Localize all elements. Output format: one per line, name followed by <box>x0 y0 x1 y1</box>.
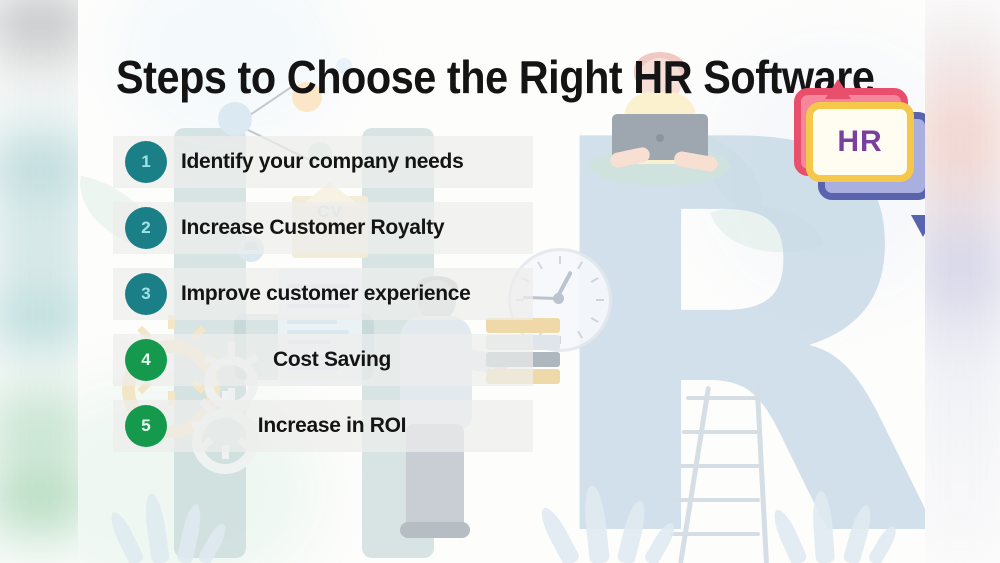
speech-bubble-front: HR <box>806 102 914 182</box>
speech-bubble-tail-pink <box>825 79 851 99</box>
grass-tuft-left <box>120 487 240 563</box>
step-label-3: Improve customer experience <box>181 282 471 306</box>
step-label-2: Increase Customer Royalty <box>181 216 444 240</box>
grass-tuft-center <box>556 481 686 563</box>
step-number-badge-1: 1 <box>125 141 167 183</box>
step-number-badge-5: 5 <box>125 405 167 447</box>
speech-bubble-tail-blue <box>911 215 925 237</box>
step-label-1: Identify your company needs <box>181 150 463 174</box>
steps-list: 1 Identify your company needs 2 Increase… <box>113 136 533 466</box>
step-label-4: Cost Saving <box>167 348 497 372</box>
infographic-artboard: R CV <box>78 0 925 563</box>
step-number-badge-4: 4 <box>125 339 167 381</box>
step-number-badge-3: 3 <box>125 273 167 315</box>
step-number-badge-2: 2 <box>125 207 167 249</box>
infographic-canvas: R CV <box>0 0 1000 563</box>
hr-speech-bubble-badge: HR <box>788 84 925 202</box>
step-row-3[interactable]: 3 Improve customer experience <box>113 268 533 320</box>
step-row-1[interactable]: 1 Identify your company needs <box>113 136 533 188</box>
letterbox-blur-left <box>0 0 90 563</box>
page-title: Steps to Choose the Right HR Software <box>116 51 800 103</box>
step-row-5[interactable]: 5 Increase in ROI <box>113 400 533 452</box>
step-row-2[interactable]: 2 Increase Customer Royalty <box>113 202 533 254</box>
hr-badge-label: HR <box>837 125 882 159</box>
ladder-illustration <box>668 390 788 562</box>
step-label-5: Increase in ROI <box>167 414 497 438</box>
grass-tuft-right <box>784 485 904 563</box>
step-row-4[interactable]: 4 Cost Saving <box>113 334 533 386</box>
